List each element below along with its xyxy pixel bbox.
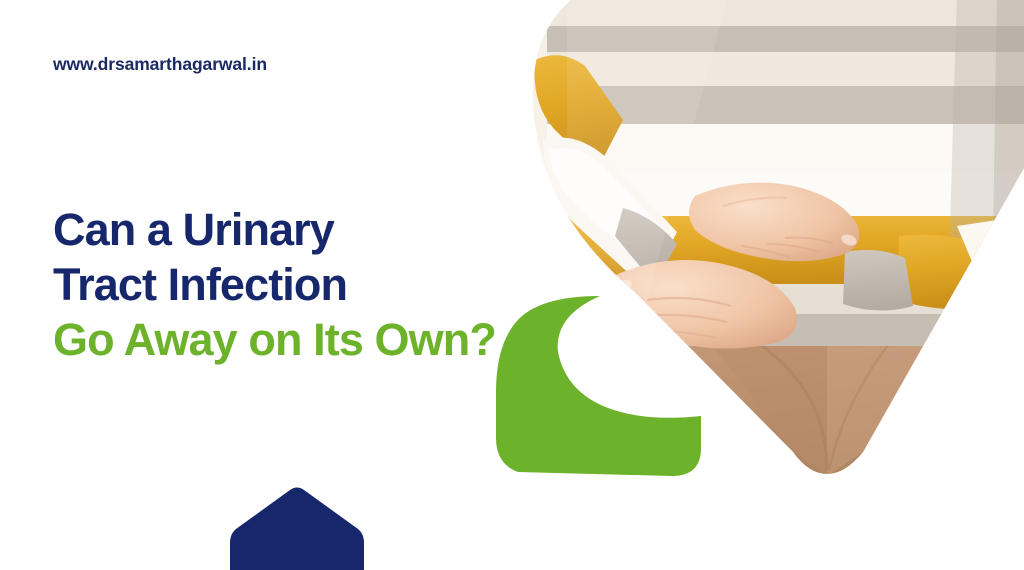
headline-line-2: Tract Infection: [53, 257, 493, 312]
headline-line-3: Go Away on Its Own?: [53, 312, 493, 367]
promo-banner: www.drsamarthagarwal.in Can a Urinary Tr…: [0, 0, 1024, 570]
navy-pentagon-shape: [230, 487, 364, 570]
website-url: www.drsamarthagarwal.in: [53, 54, 267, 75]
headline-block: Can a Urinary Tract Infection Go Away on…: [53, 202, 493, 367]
headline-line-1: Can a Urinary: [53, 202, 493, 257]
green-bracket-shape: [496, 296, 701, 476]
